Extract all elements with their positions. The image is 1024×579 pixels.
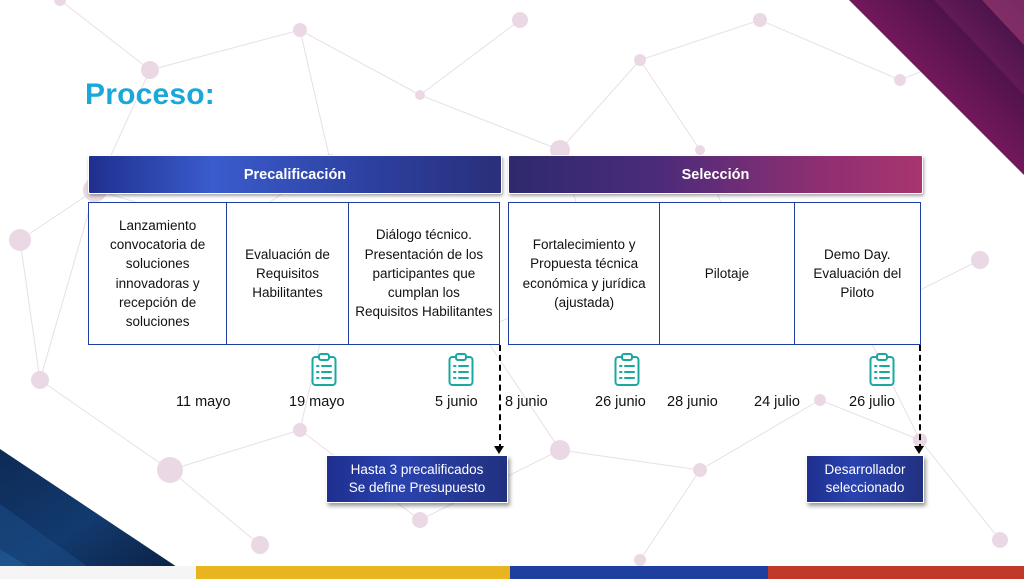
date-label-11-mayo: 11 mayo bbox=[176, 394, 231, 410]
phase-header-label: Precalificación bbox=[244, 167, 346, 183]
phase-header-label: Selección bbox=[682, 167, 750, 183]
callout-line-1: Hasta 3 precalificados bbox=[351, 461, 484, 479]
clipboard-icon bbox=[614, 353, 640, 387]
arrow-head-right bbox=[914, 446, 924, 454]
callout-line-1: Desarrollador bbox=[824, 461, 905, 479]
step-box: Lanzamiento convocatoria de soluciones i… bbox=[89, 203, 227, 344]
dashed-connector-right bbox=[919, 345, 921, 450]
callout-line-2: seleccionado bbox=[826, 479, 905, 497]
page-title: Proceso: bbox=[85, 78, 215, 112]
phase-header-precalificacion: Precalificación bbox=[88, 155, 502, 194]
step-box: Evaluación de Requisitos Habilitantes bbox=[227, 203, 348, 344]
date-label-24-julio: 24 julio bbox=[754, 394, 800, 410]
steps-group-seleccion: Fortalecimiento y Propuesta técnica econ… bbox=[508, 202, 921, 345]
bottom-bar-segment bbox=[510, 566, 768, 579]
bottom-bar-segment bbox=[768, 566, 1024, 579]
slide-root: Proceso: Precalificación Selección Lanza… bbox=[0, 0, 1024, 579]
steps-group-precalificacion: Lanzamiento convocatoria de soluciones i… bbox=[88, 202, 500, 345]
bottom-bar-segment bbox=[0, 566, 196, 579]
callout-precalificados: Hasta 3 precalificados Se define Presupu… bbox=[326, 455, 508, 503]
date-label-28-junio: 28 junio bbox=[667, 394, 718, 410]
step-box: Pilotaje bbox=[660, 203, 794, 344]
corner-decoration-bottom-left bbox=[0, 409, 215, 579]
bottom-bar-segment bbox=[196, 566, 510, 579]
step-box: Diálogo técnico. Presentación de los par… bbox=[349, 203, 499, 344]
corner-decoration-top-right bbox=[794, 0, 1024, 175]
date-label-26-julio: 26 julio bbox=[849, 394, 895, 410]
date-label-26-junio: 26 junio bbox=[595, 394, 646, 410]
dashed-connector-left bbox=[499, 345, 501, 450]
arrow-head-left bbox=[494, 446, 504, 454]
step-box: Demo Day. Evaluación del Piloto bbox=[795, 203, 920, 344]
bottom-color-bar bbox=[0, 566, 1024, 579]
date-label-5-junio: 5 junio bbox=[435, 394, 478, 410]
phase-header-seleccion: Selección bbox=[508, 155, 923, 194]
clipboard-icon bbox=[311, 353, 337, 387]
step-box: Fortalecimiento y Propuesta técnica econ… bbox=[509, 203, 660, 344]
callout-line-2: Se define Presupuesto bbox=[349, 479, 486, 497]
clipboard-icon bbox=[448, 353, 474, 387]
clipboard-icon bbox=[869, 353, 895, 387]
date-label-19-mayo: 19 mayo bbox=[289, 394, 345, 410]
date-label-8-junio: 8 junio bbox=[505, 394, 548, 410]
callout-desarrollador: Desarrollador seleccionado bbox=[806, 455, 924, 503]
